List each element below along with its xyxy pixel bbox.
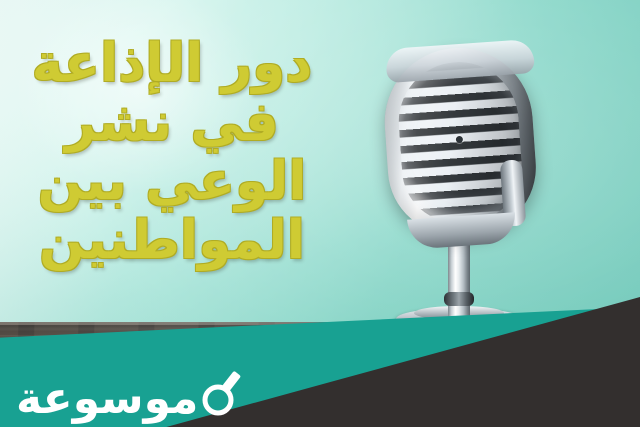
magnifier-meem-icon <box>196 367 248 419</box>
microphone-pole-collar <box>444 292 474 306</box>
microphone-bottom-cap <box>407 212 517 249</box>
brand-logo-text: موسوعة <box>16 377 198 421</box>
brand-logo[interactable]: موسوعة <box>16 367 248 419</box>
thumbnail-canvas: دور الإذاعة في نشر الوعي بين المواطنين م… <box>0 0 640 427</box>
